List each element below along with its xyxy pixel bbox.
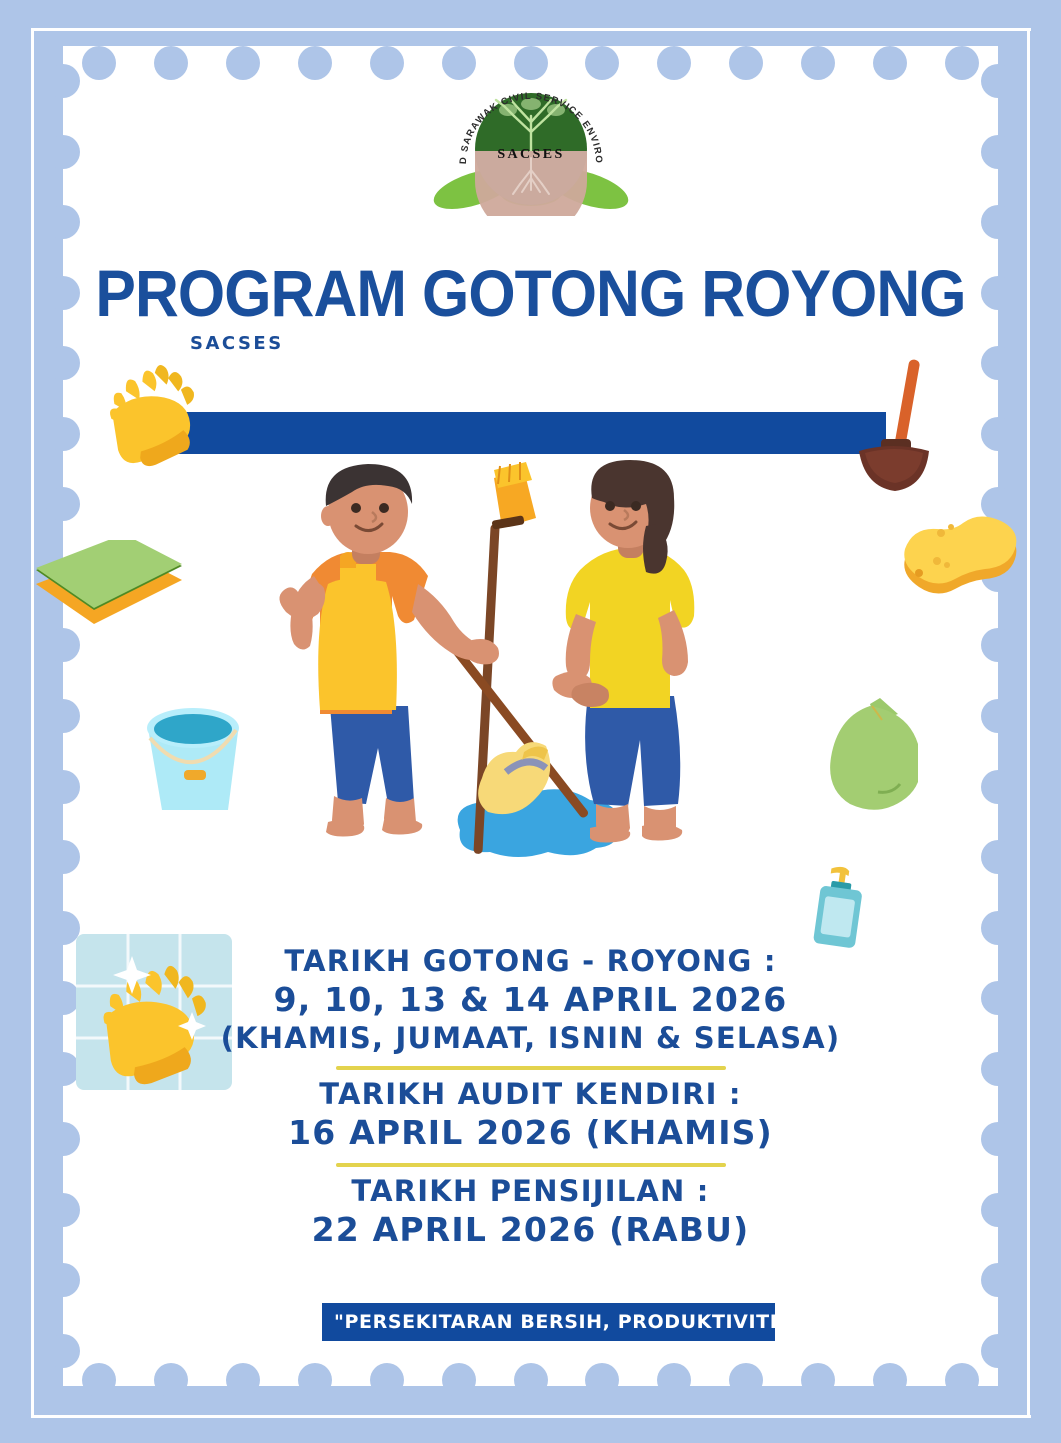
frame-rule-top — [31, 28, 1031, 31]
page-title: PROGRAM GOTONG ROYONG — [42, 255, 1018, 331]
poster-root: SACSES STANDARD SARAWAK CIVIL SERVICE EN… — [0, 0, 1061, 1443]
girl-figure — [552, 460, 694, 843]
sacses-logo: SACSES STANDARD SARAWAK CIVIL SERVICE EN… — [416, 86, 646, 216]
pensijilan-date: 22 APRIL 2026 (RABU) — [0, 1210, 1061, 1251]
gotong-royong-heading: TARIKH GOTONG - ROYONG : — [0, 944, 1061, 980]
plunger-illustration — [845, 355, 945, 515]
boy-figure — [279, 464, 499, 837]
yellow-sponge-illustration — [895, 505, 1025, 610]
page-subtitle: SACSES — [190, 333, 284, 354]
dates-block: TARIKH GOTONG - ROYONG : 9, 10, 13 & 14 … — [0, 944, 1061, 1251]
blue-banner-bar — [176, 412, 886, 454]
gotong-royong-days: (KHAMIS, JUMAAT, ISNIN & SELASA) — [0, 1021, 1061, 1057]
soap-dispenser-illustration — [808, 858, 870, 958]
tagline-ribbon: "PERSEKITARAN BERSIH, PRODUKTIVITI MENIN… — [322, 1303, 775, 1341]
trash-bag-illustration — [818, 690, 918, 815]
audit-kendiri-date: 16 APRIL 2026 (KHAMIS) — [0, 1113, 1061, 1154]
green-sponge-illustration — [28, 540, 188, 640]
cleaning-people-illustration — [270, 460, 800, 910]
gotong-royong-date: 9, 10, 13 & 14 APRIL 2026 — [0, 980, 1061, 1021]
divider-1 — [336, 1066, 726, 1070]
logo-center-text: SACSES — [497, 147, 564, 162]
tagline-text: "PERSEKITARAN BERSIH, PRODUKTIVITI MENIN… — [322, 1303, 775, 1341]
pensijilan-heading: TARIKH PENSIJILAN : — [0, 1174, 1061, 1210]
rubber-gloves-illustration — [92, 352, 216, 482]
audit-kendiri-heading: TARIKH AUDIT KENDIRI : — [0, 1077, 1061, 1113]
frame-rule-bottom — [31, 1415, 1031, 1418]
divider-2 — [336, 1163, 726, 1167]
bucket-illustration — [132, 698, 252, 814]
